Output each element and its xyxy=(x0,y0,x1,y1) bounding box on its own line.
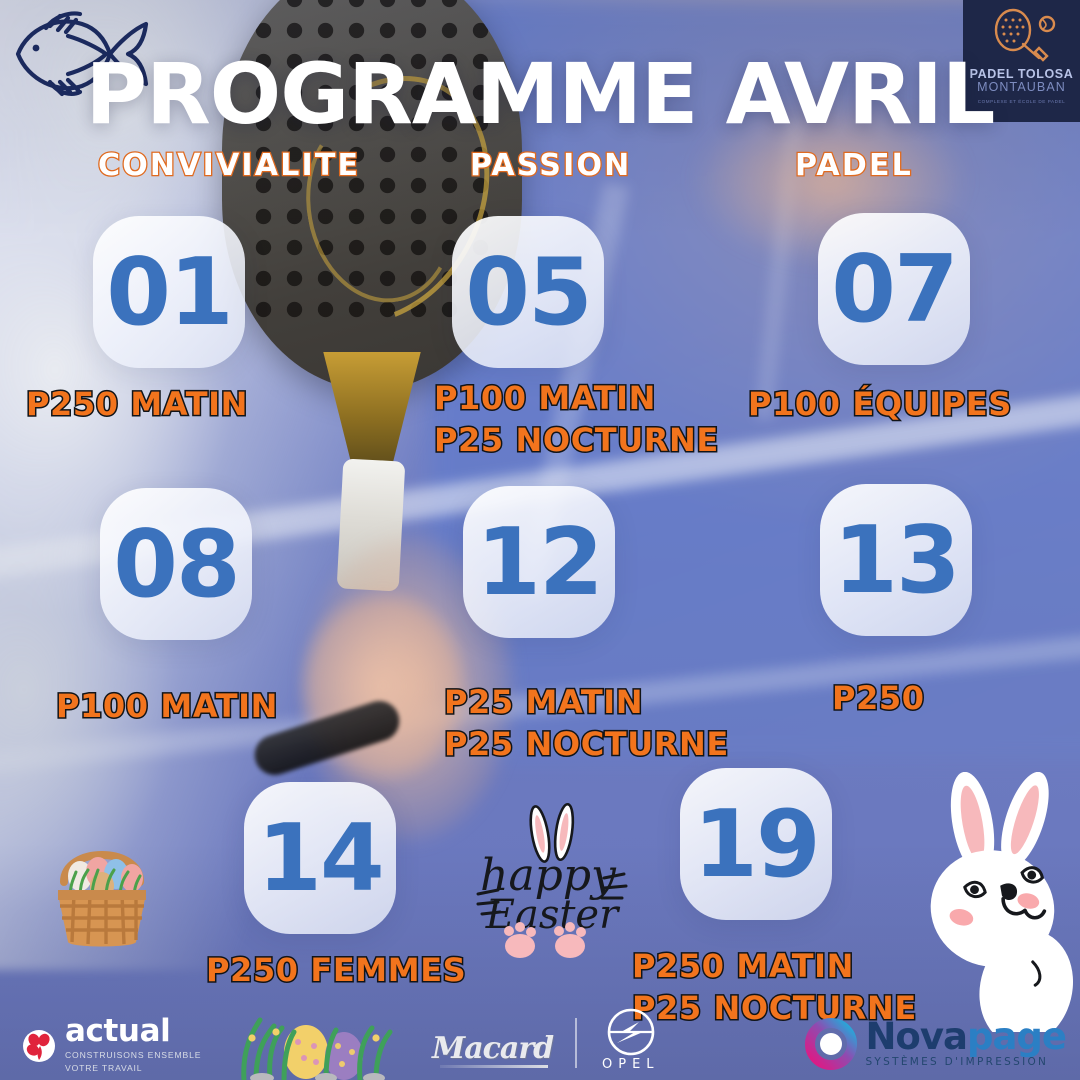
sponsor-divider xyxy=(575,1018,577,1068)
event-label-08: P100 MATIN xyxy=(56,688,278,726)
event-label-13: P250 xyxy=(832,680,925,718)
tagline-passion: PASSION xyxy=(470,148,632,183)
sponsor-novapage-name-part2: page xyxy=(967,1015,1066,1058)
sponsor-macard-name: Macard xyxy=(432,1031,553,1066)
sponsor-actual-tagline1: CONSTRUISONS ENSEMBLE xyxy=(65,1050,201,1061)
event-label-01: P250 MATIN xyxy=(26,386,248,424)
tagline-row: CONVIVIALITE PASSION PADEL xyxy=(0,148,1080,188)
date-number: 13 xyxy=(833,514,958,607)
poster-canvas: PADEL TOLOSA MONTAUBAN COMPLEXE ET ÉCOLE… xyxy=(0,0,1080,1080)
event-line: P250 FEMMES xyxy=(206,951,466,989)
sponsor-actual-name: actual xyxy=(65,1017,201,1046)
sponsor-bar: actual CONSTRUISONS ENSEMBLE VOTRE TRAVA… xyxy=(0,1002,1080,1080)
sponsor-novapage[interactable]: Novapage SYSTÈMES D'IMPRESSION xyxy=(805,1018,1066,1070)
event-line: P250 xyxy=(832,679,925,717)
event-line: P100 ÉQUIPES xyxy=(748,385,1012,423)
date-number: 08 xyxy=(113,518,238,611)
event-label-07: P100 ÉQUIPES xyxy=(748,386,1012,424)
date-tile-13[interactable]: 13 xyxy=(820,484,972,636)
sponsor-novapage-name-part1: Nova xyxy=(865,1015,966,1058)
date-number: 14 xyxy=(257,812,382,905)
sponsor-novapage-tagline: SYSTÈMES D'IMPRESSION xyxy=(865,1056,1066,1068)
event-label-12: P25 MATIN P25 NOCTURNE xyxy=(444,684,729,764)
event-line: P250 MATIN xyxy=(632,947,854,985)
happy-easter-lettering-icon: happy Easter xyxy=(452,800,652,960)
opel-lightning-icon xyxy=(605,1006,657,1058)
sponsor-actual[interactable]: actual CONSTRUISONS ENSEMBLE VOTRE TRAVA… xyxy=(22,1017,201,1074)
date-tile-07[interactable]: 07 xyxy=(818,213,970,365)
sponsor-macard[interactable]: Macard xyxy=(432,1031,553,1066)
page-title: PROGRAMME AVRIL xyxy=(0,52,1080,136)
event-line: P25 NOCTURNE xyxy=(444,726,729,764)
easter-basket-icon xyxy=(36,824,168,952)
date-number: 19 xyxy=(693,798,818,891)
date-tile-14[interactable]: 14 xyxy=(244,782,396,934)
event-label-14: P250 FEMMES xyxy=(206,952,466,990)
event-line: P100 MATIN xyxy=(56,687,278,725)
date-tile-05[interactable]: 05 xyxy=(452,216,604,368)
sponsor-opel-name: OPEL xyxy=(602,1057,660,1072)
gradient-ring-icon xyxy=(805,1018,857,1070)
event-line: P100 MATIN xyxy=(434,379,656,417)
event-label-05: P100 MATIN P25 NOCTURNE xyxy=(434,380,719,460)
clover-icon xyxy=(22,1029,56,1063)
date-number: 05 xyxy=(465,246,590,339)
date-number: 07 xyxy=(831,243,956,336)
date-number: 12 xyxy=(476,516,601,609)
easter-bunny-icon xyxy=(896,772,1080,1032)
tagline-padel: PADEL xyxy=(795,148,913,183)
date-tile-12[interactable]: 12 xyxy=(463,486,615,638)
date-tile-01[interactable]: 01 xyxy=(93,216,245,368)
event-line: P25 NOCTURNE xyxy=(434,422,719,460)
sponsor-novapage-name: Novapage xyxy=(865,1020,1066,1053)
event-line: P25 MATIN xyxy=(444,683,643,721)
sponsor-opel[interactable]: OPEL xyxy=(602,1006,660,1072)
date-tile-19[interactable]: 19 xyxy=(680,768,832,920)
sponsor-actual-tagline2: VOTRE TRAVAIL xyxy=(65,1063,201,1074)
sponsor-macard-underline xyxy=(440,1065,548,1068)
date-tile-08[interactable]: 08 xyxy=(100,488,252,640)
event-line: P250 MATIN xyxy=(26,385,248,423)
tagline-convivialite: CONVIVIALITE xyxy=(98,148,360,183)
date-number: 01 xyxy=(106,246,231,339)
